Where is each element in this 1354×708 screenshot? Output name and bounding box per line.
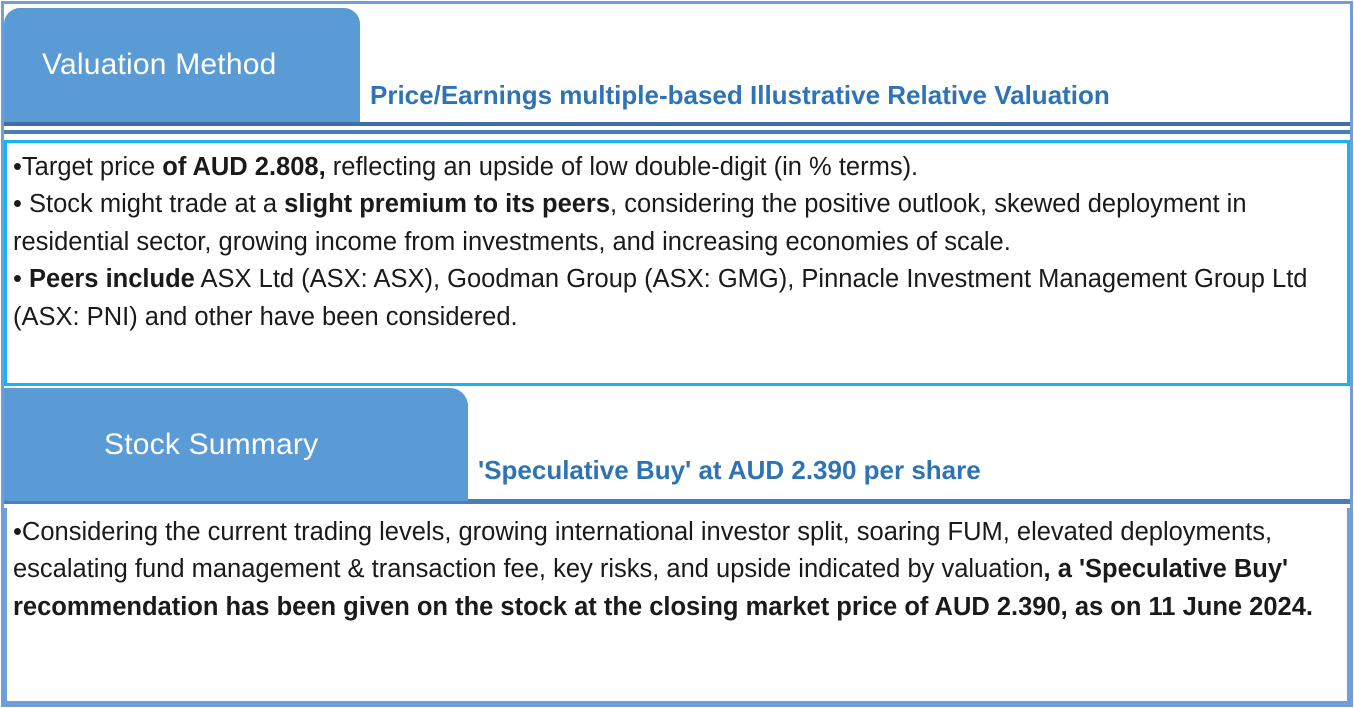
valuation-method-content: •Target price of AUD 2.808, reflecting a… <box>4 140 1350 386</box>
stock-summary-tab[interactable]: Stock Summary <box>4 388 468 501</box>
plain-text: • Stock might trade at a <box>13 190 284 218</box>
valuation-summary-slide: Valuation Method Price/Earnings multiple… <box>0 0 1354 708</box>
plain-text: ASX Ltd (ASX: ASX), Goodman Group (ASX: … <box>13 265 1307 330</box>
valuation-method-tab[interactable]: Valuation Method <box>4 8 360 122</box>
stock-summary-bullet-list: •Considering the current trading levels,… <box>7 508 1347 626</box>
stock-summary-content: •Considering the current trading levels,… <box>4 508 1350 704</box>
bullet-target-price: •Target price of AUD 2.808, reflecting a… <box>13 149 1333 186</box>
header-divider-rule-1 <box>4 130 1350 134</box>
emphasis-text: of AUD 2.808, <box>162 153 325 181</box>
stock-summary-tab-label: Stock Summary <box>104 428 318 462</box>
bullet-recommendation: •Considering the current trading levels,… <box>13 514 1333 626</box>
plain-text: • <box>13 265 29 293</box>
plain-text: reflecting an upside of low double-digit… <box>326 153 918 181</box>
stock-summary-heading: 'Speculative Buy' at AUD 2.390 per share <box>478 455 981 486</box>
emphasis-text: Peers include <box>29 265 195 293</box>
emphasis-text: slight premium to its peers <box>284 190 610 218</box>
valuation-method-heading: Price/Earnings multiple-based Illustrati… <box>370 80 1110 111</box>
valuation-method-tab-label: Valuation Method <box>42 48 276 82</box>
valuation-method-bullet-list: •Target price of AUD 2.808, reflecting a… <box>7 143 1347 336</box>
plain-text: •Target price <box>13 153 162 181</box>
bullet-peers: • Peers include ASX Ltd (ASX: ASX), Good… <box>13 261 1333 336</box>
bullet-premium-peers: • Stock might trade at a slight premium … <box>13 186 1333 261</box>
